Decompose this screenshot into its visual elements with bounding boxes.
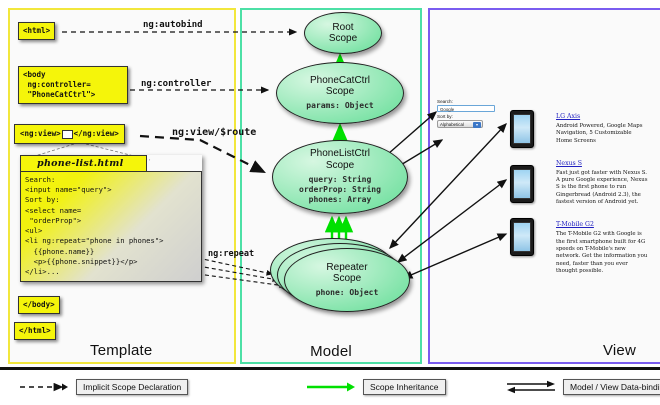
phone-snippet: The T-Mobile G2 with Google is the first…	[556, 231, 648, 275]
phone-name-link[interactable]: Nexus S	[556, 160, 582, 167]
scope-phonecatctrl-title-line1: PhoneCatCtrl	[310, 75, 370, 86]
panel-label-template: Template	[90, 342, 152, 359]
code-box-html-close: </html>	[14, 322, 56, 340]
scope-phonelistctrl: PhoneListCtrl Scope query: String orderP…	[272, 140, 408, 214]
phone-snippet: Android Powered, Google Maps Navigation,…	[556, 123, 648, 145]
phone-snippet: Fast just got faster with Nexus S. A pur…	[556, 170, 648, 206]
connector-label-repeat: ng:repeat	[208, 249, 254, 259]
scope-repeater-title-line1: Repeater	[326, 262, 367, 273]
legend-item-model-view-databinding: Model / View Data-binding	[505, 379, 660, 395]
scope-repeater-title-line2: Scope	[333, 273, 361, 284]
sort-by-value: Alphabetical	[440, 122, 464, 127]
legend-icon-double-arrow	[505, 380, 557, 394]
diagram-canvas: Template Model View	[0, 0, 660, 405]
sort-by-label: Sort by:	[437, 114, 495, 119]
scope-phonecatctrl-props: params: Object	[306, 101, 373, 111]
list-item: T-Mobile G2 The T-Mobile G2 with Google …	[556, 213, 648, 275]
phone-screen	[513, 222, 531, 252]
search-input[interactable]: Google	[437, 105, 495, 112]
phone-name-link[interactable]: T-Mobile G2	[556, 221, 594, 228]
chevron-down-icon: ▾	[473, 122, 481, 128]
list-item: LG Axis Android Powered, Google Maps Nav…	[556, 105, 648, 145]
template-callout-phone-list: phone-list.html Search: <input name="que…	[20, 155, 202, 282]
scope-phonecatctrl-title-line2: Scope	[326, 86, 354, 97]
list-item: Nexus S Fast just got faster with Nexus …	[556, 152, 648, 206]
phone-screen	[513, 169, 531, 199]
legend-item-scope-inheritance: Scope Inheritance	[305, 379, 446, 395]
scope-phonecatctrl: PhoneCatCtrl Scope params: Object	[276, 62, 404, 124]
legend-label: Implicit Scope Declaration	[76, 379, 188, 395]
scope-phonelistctrl-title: PhoneListCtrl Scope	[310, 148, 370, 170]
view-search-form: Search: Google Sort by: Alphabetical ▾	[437, 99, 495, 128]
scope-root-title-line2: Scope	[329, 33, 357, 44]
phone-thumbnail-t-mobile-g2	[510, 218, 534, 256]
phone-thumbnail-nexus-s	[510, 165, 534, 203]
scope-repeater: Repeater Scope phone: Object	[284, 248, 410, 312]
legend-label: Model / View Data-binding	[563, 379, 660, 395]
ngview-open-tag: <ng:view>	[20, 129, 61, 138]
code-box-body-close: </body>	[18, 296, 60, 314]
scope-root-title-line1: Root	[332, 22, 353, 33]
legend-label: Scope Inheritance	[363, 379, 446, 395]
legend-icon-green-arrow	[305, 380, 357, 394]
panel-label-model: Model	[242, 343, 420, 360]
phone-list: LG Axis Android Powered, Google Maps Nav…	[556, 105, 648, 282]
connector-label-autobind: ng:autobind	[143, 20, 203, 30]
ngview-close-tag: </ng:view>	[74, 129, 119, 138]
legend-separator	[0, 367, 660, 370]
scope-root: Root Scope	[304, 12, 382, 54]
code-box-html-open: <html>	[18, 22, 55, 40]
code-box-body-open: <body ng:controller= "PhoneCatCtrl">	[18, 66, 128, 104]
callout-code: Search: <input name="query"> Sort by: <s…	[20, 171, 202, 282]
code-box-ngview: <ng:view></ng:view>	[14, 124, 125, 144]
search-label: Search:	[437, 99, 495, 104]
scope-repeater-title: Repeater Scope	[326, 262, 367, 284]
connector-label-controller: ng:controller	[141, 79, 211, 89]
legend-item-implicit-scope-declaration: Implicit Scope Declaration	[18, 379, 188, 395]
phone-screen	[513, 114, 531, 144]
callout-filename: phone-list.html	[20, 155, 147, 171]
scope-root-title: Root Scope	[329, 22, 357, 44]
ngview-slot-placeholder	[62, 130, 73, 139]
phone-thumbnail-lg-axis	[510, 110, 534, 148]
panel-label-view: View	[603, 342, 636, 359]
connector-label-route: ng:view/$route	[172, 127, 256, 138]
scope-phonecatctrl-title: PhoneCatCtrl Scope	[310, 75, 370, 97]
scope-phonelistctrl-title-line1: PhoneListCtrl	[310, 148, 370, 159]
legend-icon-dashed-arrow	[18, 380, 70, 394]
scope-phonelistctrl-title-line2: Scope	[326, 160, 354, 171]
phone-name-link[interactable]: LG Axis	[556, 113, 580, 120]
scope-phonelistctrl-props: query: String orderProp: String phones: …	[299, 175, 381, 206]
scope-repeater-props: phone: Object	[316, 288, 379, 298]
sort-by-select[interactable]: Alphabetical ▾	[437, 120, 483, 128]
